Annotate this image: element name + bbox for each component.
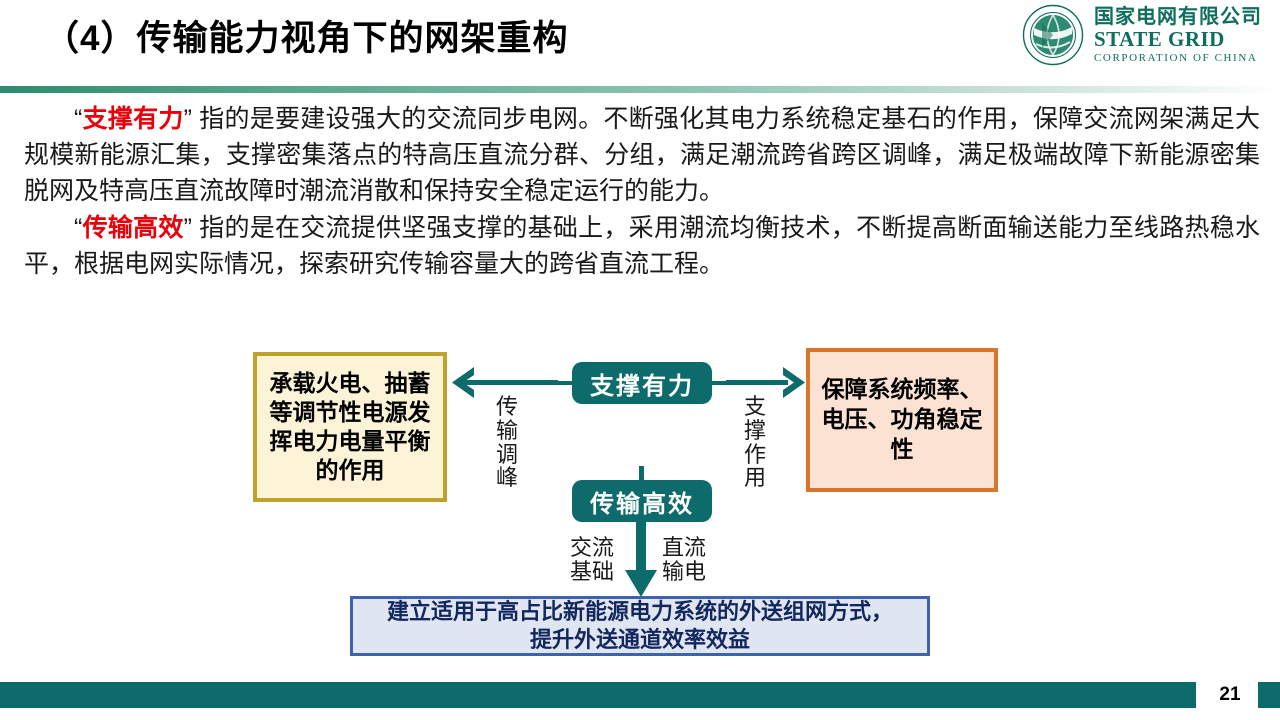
arrow-head-left-icon [449,366,475,404]
diagram-node-transmission: 传输高效 [572,480,712,522]
paragraph-1-text: 指的是要建设强大的交流同步电网。不断强化其电力系统稳定基石的作用，保障交流网架满… [24,105,1260,205]
logo-company-en: STATE GRID [1094,29,1262,50]
label-transmission-peak: 传输调峰 [494,395,520,490]
page-title: （4）传输能力视角下的网架重构 [44,10,568,61]
label-dc-transmission: 直流输电 [658,536,710,584]
diagram-box-right: 保障系统频率、电压、功角稳定性 [806,348,998,492]
bottom-box-line2: 提升外送通道效率效益 [530,627,750,652]
quote-close: ” [184,105,192,133]
bottom-box-line1: 建立适用于高占比新能源电力系统的外送组网方式， [387,599,893,624]
diagram-box-bottom: 建立适用于高占比新能源电力系统的外送组网方式， 提升外送通道效率效益 [350,596,930,656]
body-text: “支撑有力” 指的是要建设强大的交流同步电网。不断强化其电力系统稳定基石的作用，… [24,102,1260,283]
quote-close-2: ” [184,214,192,242]
logo-company-cn: 国家电网有限公司 [1094,7,1262,27]
arrow-line-right [726,380,788,385]
arrow-down-icon [624,522,658,603]
paragraph-2-text: 指的是在交流提供坚强支撑的基础上，采用潮流均衡技术，不断提高断面输送能力至线路热… [24,214,1260,278]
diagram: 承载火电、抽蓄等调节性电源发挥电力电量平衡的作用 保障系统频率、电压、功角稳定性… [0,340,1280,670]
arrow-head-right-icon [782,366,808,404]
paragraph-2: “传输高效” 指的是在交流提供坚强支撑的基础上，采用潮流均衡技术，不断提高断面输… [24,211,1260,283]
header-divider [0,86,1280,93]
bottom-box-text: 建立适用于高占比新能源电力系统的外送组网方式， 提升外送通道效率效益 [387,598,893,653]
label-support-role: 支撑作用 [742,395,768,490]
state-grid-logo: 国家电网有限公司 STATE GRID CORPORATION OF CHINA [1022,4,1262,66]
label-ac-basis: 交流基础 [566,536,618,584]
page-number: 21 [1208,684,1252,706]
logo-wordmark: 国家电网有限公司 STATE GRID CORPORATION OF CHINA [1094,7,1262,64]
keyword-support: 支撑有力 [82,105,183,133]
diagram-node-support: 支撑有力 [572,362,712,404]
state-grid-globe-emblem-icon [1022,4,1084,66]
diagram-box-left: 承载火电、抽蓄等调节性电源发挥电力电量平衡的作用 [253,352,447,502]
paragraph-1: “支撑有力” 指的是要建设强大的交流同步电网。不断强化其电力系统稳定基石的作用，… [24,102,1260,209]
footer-accent-block [1258,682,1280,708]
arrow-line-left [463,380,558,385]
footer-bar [0,682,1196,708]
connector-stub-top-vertical [639,466,644,482]
logo-company-en-sub: CORPORATION OF CHINA [1094,53,1262,64]
keyword-transmission: 传输高效 [82,214,183,242]
connector-stub-left [556,381,574,385]
